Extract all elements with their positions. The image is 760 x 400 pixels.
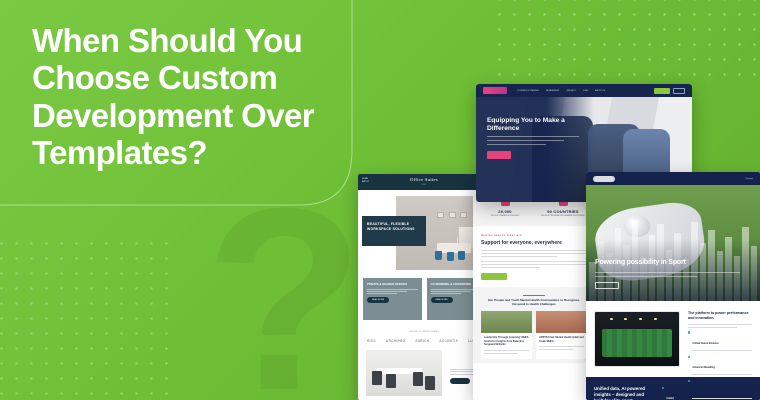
- text-line: [692, 350, 752, 351]
- text-line: [431, 291, 471, 292]
- bullet-dot-icon: [688, 380, 690, 382]
- equipping-nav-items: COURSES & TRAINING MEMBERSHIP INSIGHTS J…: [517, 90, 654, 92]
- read-more-button[interactable]: READ MORE: [431, 297, 453, 303]
- bullet-dot-icon: [662, 387, 664, 389]
- mockup-sport-site[interactable]: Contact Powering possibility in Sport: [586, 172, 760, 400]
- office-suites-nav: HOME ABOUT: [362, 178, 369, 184]
- cta-button[interactable]: [450, 378, 470, 384]
- enquire-button[interactable]: [654, 88, 670, 94]
- page-title: When Should You Choose Custom Developmen…: [32, 22, 342, 171]
- bullet-title: Advanced Modelling: [692, 367, 714, 369]
- text-line: [367, 289, 418, 290]
- text-line: [487, 144, 546, 145]
- login-button[interactable]: [673, 88, 685, 94]
- dot-pattern-top-right: [492, 0, 760, 82]
- office-suites-brand-sub: LTD: [422, 184, 427, 186]
- article-thumbnail: [536, 311, 587, 333]
- field-shape: [602, 329, 673, 357]
- text-line: [481, 267, 540, 268]
- text-line: [539, 349, 573, 350]
- text-line: [595, 272, 740, 273]
- sport-navbar: Contact: [586, 172, 760, 185]
- stat-value: 29,000: [476, 209, 534, 214]
- office-chair-shape: [386, 374, 396, 388]
- nav-item[interactable]: INSIGHTS: [566, 90, 575, 92]
- office-photo: [366, 350, 442, 396]
- feature-card[interactable]: PRIVATE & SHARED OFFICES READ MORE: [363, 278, 422, 320]
- equipping-navbar: COURSES & TRAINING MEMBERSHIP INSIGHTS J…: [476, 84, 692, 97]
- article-card[interactable]: LMSTB Chat: Mental Health Adult and Yout…: [536, 311, 587, 358]
- office-chair-shape: [425, 376, 435, 390]
- text-line: [692, 374, 752, 375]
- mhfa-support-section: MENTAL HEALTH FIRST AID Support for ever…: [473, 226, 595, 287]
- banner-canvas: ? When Should You Choose Custom Developm…: [0, 0, 760, 400]
- table-shape: [437, 243, 471, 253]
- bullet-item: Collect: [662, 386, 752, 400]
- text-line: [595, 276, 697, 277]
- client-logo: ARCHIPRO: [386, 339, 405, 343]
- footer-heading: Unified data, AI powered insights – desi…: [594, 386, 654, 400]
- client-logo-strip: RICS ARCHIPRO ZURICH ACCENTIS LUMEN: [358, 333, 490, 347]
- mockup-mhfa-site[interactable]: 29,000 PEOPLE TRAINED IN ENGLAND 90 COUN…: [473, 190, 595, 400]
- question-mark-watermark: ?: [205, 196, 364, 400]
- sport-hero-text: Powering possibility in Sport: [595, 251, 740, 289]
- nav-item[interactable]: ABOUT US: [595, 90, 605, 92]
- platform-copy: The platform to power performance and in…: [688, 311, 752, 367]
- stadium-photo: [594, 311, 680, 367]
- text-line: [484, 350, 529, 351]
- client-logo: RICS: [367, 339, 376, 343]
- bullet-title: Unified Data & Evidence: [692, 343, 718, 345]
- office-chair-shape: [372, 371, 382, 385]
- nav-item[interactable]: JOBS: [583, 90, 588, 92]
- equipping-nav-buttons: [654, 88, 685, 94]
- office-suites-topbar: HOME ABOUT Office Suites LTD: [358, 174, 490, 190]
- picture-frame-icon: [449, 212, 456, 218]
- text-line: [487, 136, 579, 137]
- bullet-item: Unified Data & Evidence: [688, 331, 752, 353]
- bullet-dot-icon: [688, 331, 690, 333]
- stat-label: DELIVER THE MHFA PROGRAMME WORLDWIDE: [534, 215, 592, 218]
- text-line: [539, 346, 584, 347]
- dot-pattern-bottom-left: [0, 236, 174, 400]
- text-line: [688, 327, 737, 328]
- article-list: Leadership Through Listening: MHFA Instr…: [481, 311, 587, 358]
- text-line: [484, 353, 518, 354]
- client-logo: ACCENTIS: [439, 339, 458, 343]
- bullet-dot-icon: [688, 356, 690, 358]
- article-card[interactable]: Leadership Through Listening: MHFA Instr…: [481, 311, 532, 358]
- nav-item[interactable]: MEMBERSHIP: [546, 90, 559, 92]
- learn-more-button[interactable]: [595, 282, 619, 289]
- articles-heading: Our People and Youth Mental Health Commu…: [487, 298, 581, 306]
- text-line: [487, 140, 564, 141]
- hero-heading: Powering possibility in Sport: [595, 259, 686, 266]
- nav-item-contact[interactable]: Contact: [745, 178, 753, 180]
- bullet-item: Advanced Modelling: [688, 355, 752, 377]
- text-line: [481, 261, 587, 262]
- join-now-button[interactable]: [487, 151, 511, 159]
- office-suites-hero-box: BEAUTIFUL, FLEXIBLE WORKSPACE SOLUTIONS: [362, 216, 426, 246]
- office-suites-brand: Office Suites: [410, 177, 438, 182]
- equipping-hero-text: Equipping You to Make a Difference: [487, 117, 579, 159]
- footer-bullets: Collect Connect: [662, 386, 752, 400]
- sport-brand-logo-icon[interactable]: [593, 176, 615, 182]
- article-title: Leadership Through Listening: MHFA Instr…: [484, 336, 529, 347]
- client-logo: ZURICH: [415, 339, 429, 343]
- hero-heading: Equipping You to Make a Difference: [487, 117, 579, 133]
- text-line: [367, 291, 407, 292]
- office-suites-hero: BEAUTIFUL, FLEXIBLE WORKSPACE SOLUTIONS: [358, 190, 490, 270]
- sport-platform-section: The platform to power performance and in…: [586, 301, 760, 377]
- picture-frame-icon: [460, 212, 467, 218]
- text-line: [688, 324, 752, 325]
- text-line: [481, 264, 587, 265]
- section-heading: The platform to power performance and in…: [688, 311, 752, 321]
- text-line: [481, 250, 587, 251]
- nav-item[interactable]: COURSES & TRAINING: [517, 90, 539, 92]
- text-line: [431, 293, 461, 294]
- accent-rule: [523, 295, 545, 296]
- section-heading: Support for everyone, everywhere: [481, 240, 587, 246]
- mhfa-articles-section: Our People and Youth Mental Health Commu…: [473, 287, 595, 363]
- text-line: [450, 374, 475, 375]
- text-line: [367, 293, 397, 294]
- learn-more-button[interactable]: [481, 273, 507, 280]
- article-thumbnail: [481, 311, 532, 333]
- brand-logo-icon[interactable]: [483, 87, 507, 94]
- section-divider: [481, 295, 587, 296]
- office-suites-feature-cards: PRIVATE & SHARED OFFICES READ MORE CO-WO…: [358, 270, 490, 328]
- chair-shape: [435, 251, 442, 260]
- mockup-office-suites[interactable]: HOME ABOUT Office Suites LTD BEAUTIFUL, …: [358, 174, 490, 400]
- text-line: [481, 256, 557, 257]
- office-chair-shape: [413, 372, 423, 386]
- chair-shape: [458, 251, 465, 260]
- stat-label: PEOPLE TRAINED IN ENGLAND: [476, 215, 534, 218]
- section-eyebrow: MENTAL HEALTH FIRST AID: [481, 235, 587, 237]
- article-title: LMSTB Chat: Mental Health Adult and Yout…: [539, 336, 584, 343]
- read-more-button[interactable]: READ MORE: [367, 297, 389, 303]
- stat-value: 90 COUNTRIES: [534, 209, 592, 214]
- text-line: [481, 253, 587, 254]
- chair-shape: [447, 252, 454, 261]
- picture-frame-icon: [437, 212, 444, 218]
- sport-hero: Powering possibility in Sport: [586, 185, 760, 301]
